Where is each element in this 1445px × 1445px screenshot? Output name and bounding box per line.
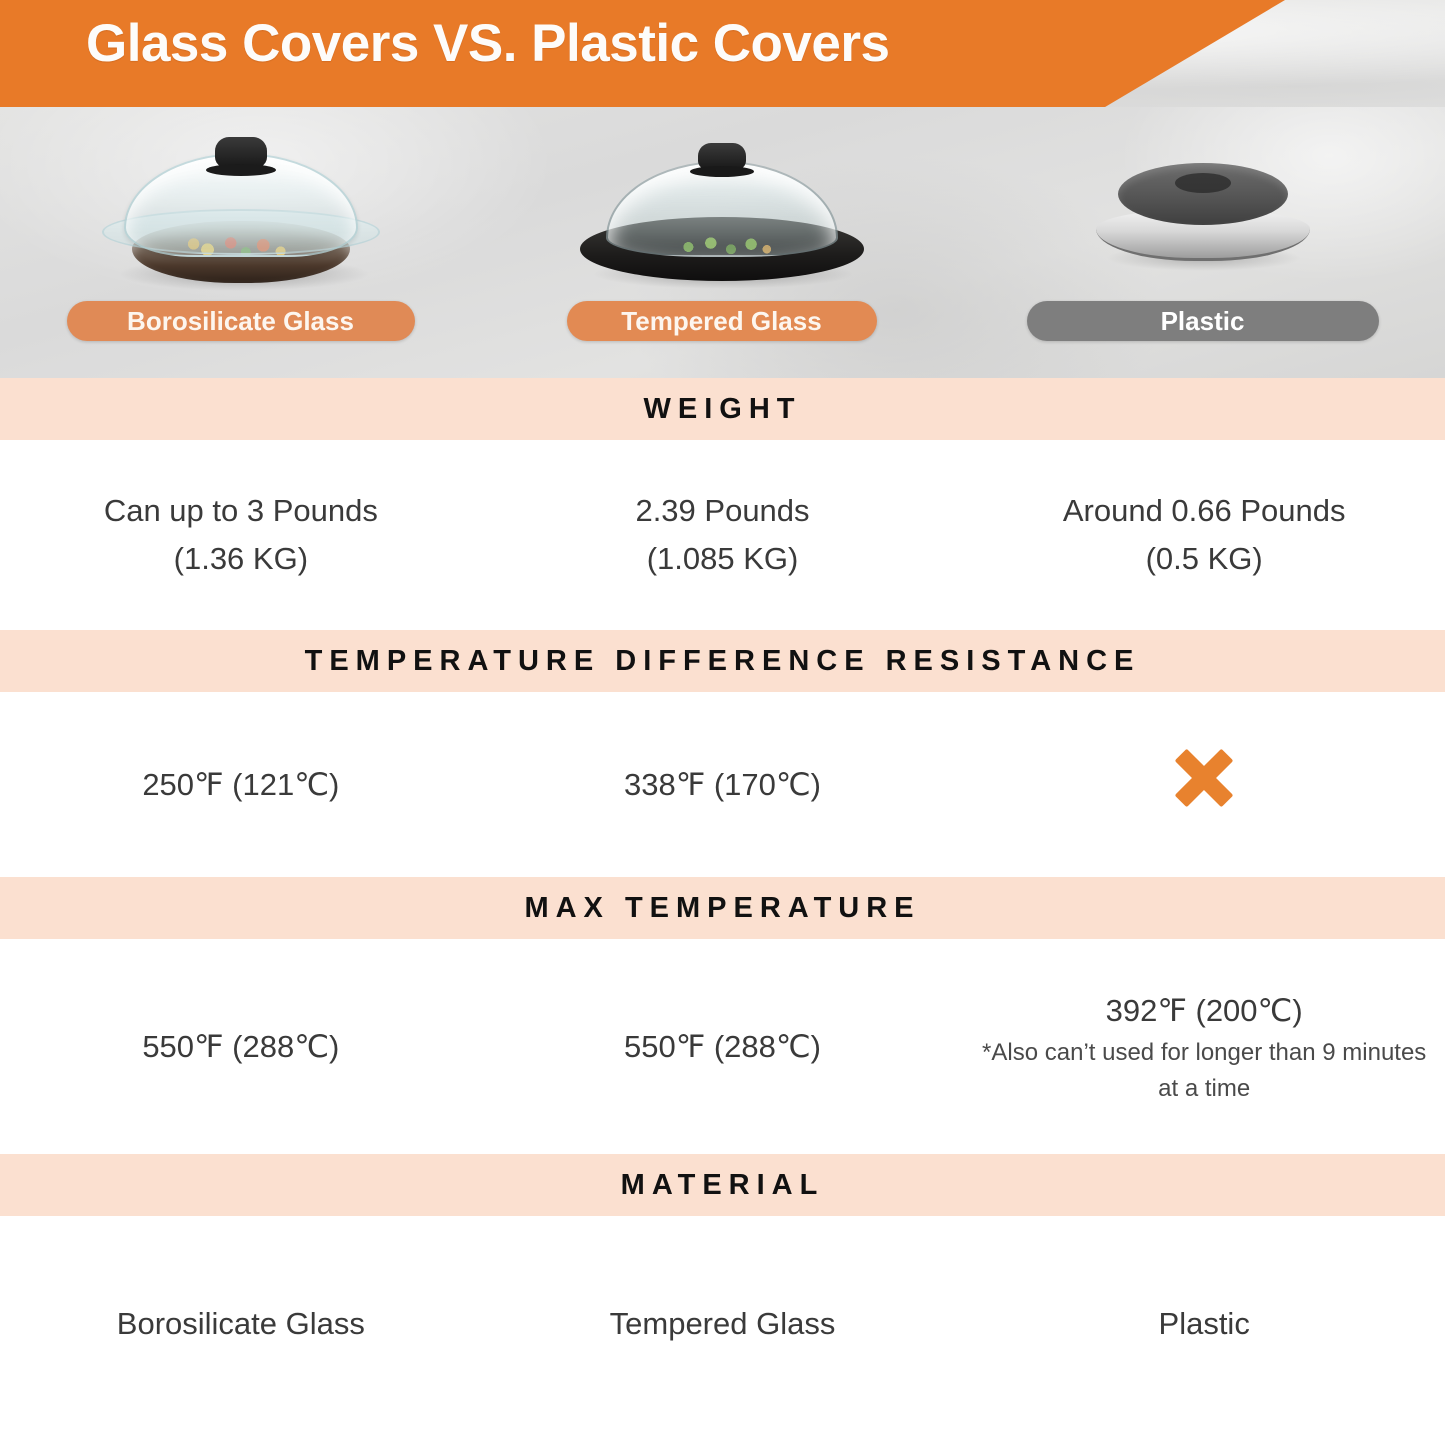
maxtemp-note-plastic: *Also can’t used for longer than 9 minut… bbox=[973, 1035, 1435, 1107]
weight-main-borosilicate: Can up to 3 Pounds bbox=[104, 493, 378, 528]
weight-cell-borosilicate: Can up to 3 Pounds (1.36 KG) bbox=[0, 487, 482, 583]
lid-knob bbox=[215, 137, 267, 171]
weight-main-tempered: 2.39 Pounds bbox=[635, 493, 809, 528]
material-cell-tempered: Tempered Glass bbox=[482, 1300, 964, 1348]
product-label-plastic: Plastic bbox=[1027, 301, 1379, 341]
comparison-infographic: Glass Covers VS. Plastic Covers Borosili… bbox=[0, 0, 1445, 1445]
weight-sub-borosilicate: (1.36 KG) bbox=[10, 535, 472, 583]
section-row-max-temperature: 550℉ (288℃) 550℉ (288℃) 392℉ (200℃) *Als… bbox=[0, 939, 1445, 1154]
section-header-weight: WEIGHT bbox=[0, 378, 1445, 440]
x-mark-icon bbox=[1175, 749, 1233, 807]
page-title: Glass Covers VS. Plastic Covers bbox=[86, 13, 890, 74]
weight-main-plastic: Around 0.66 Pounds bbox=[1063, 493, 1346, 528]
section-row-temp-difference-resistance: 250℉ (121℃) 338℉ (170℃) bbox=[0, 692, 1445, 877]
material-cell-borosilicate: Borosilicate Glass bbox=[0, 1300, 482, 1348]
weight-sub-plastic: (0.5 KG) bbox=[973, 535, 1435, 583]
tdr-cell-borosilicate: 250℉ (121℃) bbox=[0, 761, 482, 809]
weight-cell-tempered: 2.39 Pounds (1.085 KG) bbox=[482, 487, 964, 583]
tempered-glass-cover-icon bbox=[572, 139, 872, 295]
product-column-tempered: Tempered Glass bbox=[481, 107, 962, 378]
tdr-cell-tempered: 338℉ (170℃) bbox=[482, 761, 964, 809]
product-photo-band: Borosilicate Glass Tempered Glass Plasti… bbox=[0, 107, 1445, 378]
section-header-material: MATERIAL bbox=[0, 1154, 1445, 1216]
maxtemp-cell-borosilicate: 550℉ (288℃) bbox=[0, 1023, 482, 1071]
product-label-tempered: Tempered Glass bbox=[567, 301, 877, 341]
tdr-cell-plastic bbox=[963, 749, 1445, 821]
header-banner-area: Glass Covers VS. Plastic Covers bbox=[0, 0, 1445, 107]
section-row-weight: Can up to 3 Pounds (1.36 KG) 2.39 Pounds… bbox=[0, 440, 1445, 630]
section-header-max-temperature: MAX TEMPERATURE bbox=[0, 877, 1445, 939]
plastic-dimple bbox=[1175, 173, 1231, 193]
maxtemp-cell-plastic: 392℉ (200℃) *Also can’t used for longer … bbox=[963, 987, 1445, 1107]
borosilicate-glass-cover-icon bbox=[96, 135, 386, 295]
product-column-borosilicate: Borosilicate Glass bbox=[0, 107, 481, 378]
product-column-plastic: Plastic bbox=[962, 107, 1443, 378]
material-cell-plastic: Plastic bbox=[963, 1300, 1445, 1348]
weight-cell-plastic: Around 0.66 Pounds (0.5 KG) bbox=[963, 487, 1445, 583]
product-label-borosilicate: Borosilicate Glass bbox=[67, 301, 415, 341]
plastic-cover-icon bbox=[1088, 153, 1318, 281]
weight-sub-tempered: (1.085 KG) bbox=[492, 535, 954, 583]
maxtemp-cell-tempered: 550℉ (288℃) bbox=[482, 1023, 964, 1071]
maxtemp-main-plastic: 392℉ (200℃) bbox=[1106, 993, 1303, 1028]
section-header-temp-difference-resistance: TEMPERATURE DIFFERENCE RESISTANCE bbox=[0, 630, 1445, 692]
lid-knob bbox=[698, 143, 746, 173]
section-row-material: Borosilicate Glass Tempered Glass Plasti… bbox=[0, 1216, 1445, 1431]
